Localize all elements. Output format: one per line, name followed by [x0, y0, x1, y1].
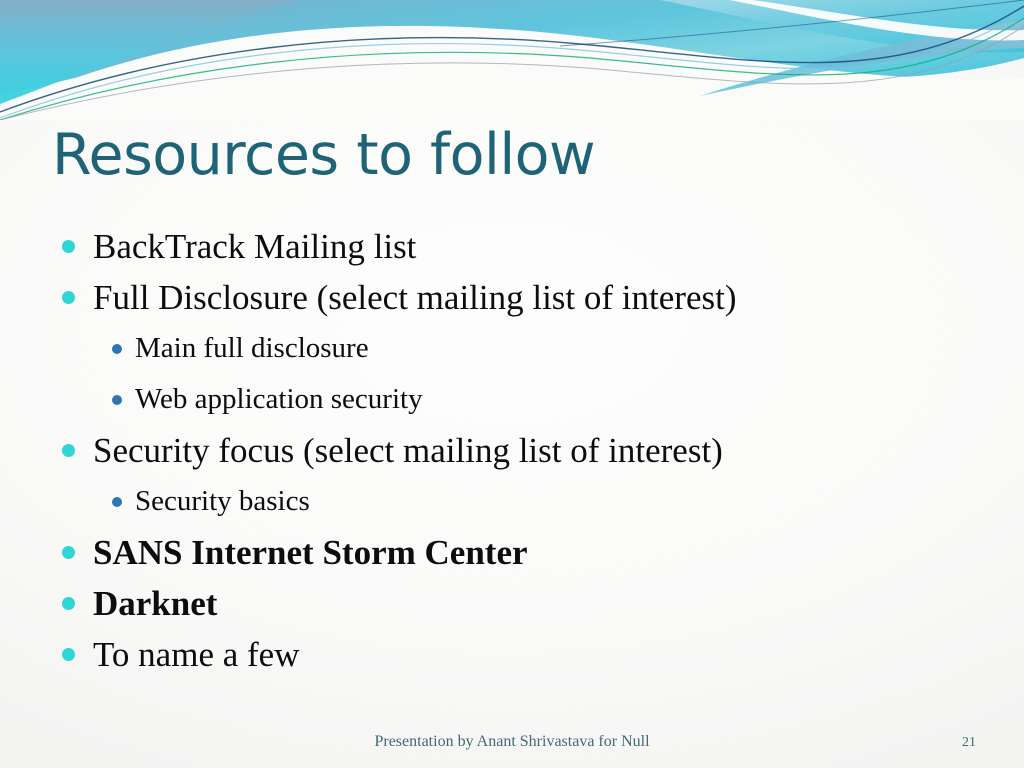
bullet-text: To name a few [93, 635, 299, 675]
bullet-item: Darknet [0, 578, 1024, 629]
sub-bullet-point-icon [112, 344, 122, 354]
slide-page-number: 21 [962, 735, 976, 751]
sub-bullet-text: Web application security [135, 383, 423, 416]
bullet-point-icon [62, 444, 75, 457]
bullet-item: Full Disclosure (select mailing list of … [0, 272, 1024, 323]
sub-bullet-text: Main full disclosure [135, 332, 369, 365]
bullet-text: Full Disclosure (select mailing list of … [93, 278, 736, 318]
bullet-point-icon [62, 546, 75, 559]
sub-bullet-text: Security basics [135, 485, 310, 518]
bullet-point-icon [62, 240, 75, 253]
bullet-item: BackTrack Mailing list [0, 221, 1024, 272]
bullet-text: SANS Internet Storm Center [93, 533, 528, 573]
slide-title: Resources to follow [52, 126, 952, 186]
sub-bullet-point-icon [112, 497, 122, 507]
decorative-header-wave-graphic [0, 0, 1024, 120]
bullet-point-icon [62, 291, 75, 304]
slide-body-bullet-list: BackTrack Mailing list Full Disclosure (… [0, 221, 1024, 680]
bullet-item: To name a few [0, 629, 1024, 680]
bullet-text: Darknet [93, 584, 217, 624]
bullet-text: BackTrack Mailing list [93, 227, 416, 267]
bullet-item: SANS Internet Storm Center [0, 527, 1024, 578]
bullet-text: Security focus (select mailing list of i… [93, 431, 723, 471]
sub-bullet-item: Main full disclosure [0, 323, 1024, 374]
sub-bullet-item: Web application security [0, 374, 1024, 425]
sub-bullet-point-icon [112, 395, 122, 405]
bullet-point-icon [62, 648, 75, 661]
bullet-item: Security focus (select mailing list of i… [0, 425, 1024, 476]
bullet-point-icon [62, 597, 75, 610]
presentation-slide: Resources to follow BackTrack Mailing li… [0, 0, 1024, 768]
sub-bullet-item: Security basics [0, 476, 1024, 527]
slide-footer-note: Presentation by Anant Shrivastava for Nu… [0, 733, 1024, 751]
